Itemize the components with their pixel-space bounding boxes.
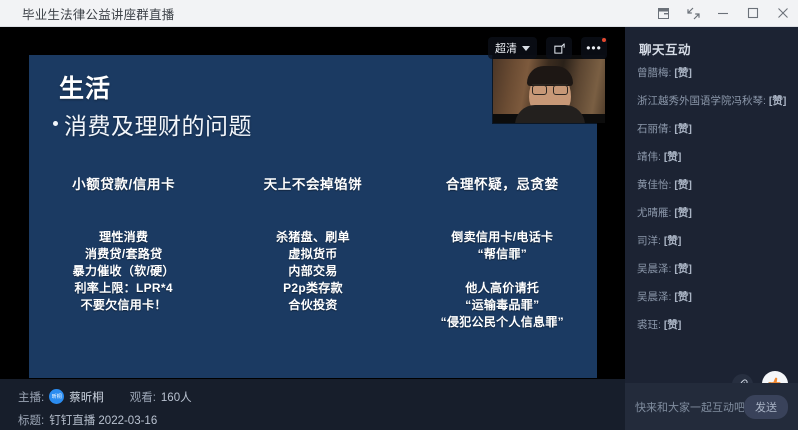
slide-line: 倒卖信用卡/电话卡: [408, 229, 597, 246]
subject-label: 标题:: [18, 412, 44, 428]
live-stream-window: 毕业生法律公益讲座群直播: [0, 0, 798, 430]
chat-message-author: 吴晨泽:: [637, 291, 671, 303]
window-title: 毕业生法律公益讲座群直播: [22, 4, 174, 23]
chat-message-author: 石丽倩:: [637, 123, 671, 135]
chat-message: 尤晴雁: [赞]: [637, 207, 786, 220]
stage: 生活 消费及理财的问题 小额贷款/信用卡 理性消费 消费贷/套路贷 暴力催收（软…: [0, 27, 625, 430]
slide-line: 消费贷/套路贷: [29, 246, 218, 263]
slide-line: 他人高价请托: [408, 280, 597, 297]
chevron-down-icon: [522, 46, 530, 51]
presenter-webcam[interactable]: [493, 55, 605, 123]
chat-message: 石丽倩: [赞]: [637, 123, 786, 136]
quality-selector[interactable]: 超清: [488, 37, 537, 59]
webcam-hair: [527, 66, 573, 86]
chat-message: 裘珏: [赞]: [637, 319, 786, 332]
chat-message: 吴晨泽: [赞]: [637, 263, 786, 276]
chat-message-author: 黄佳怡:: [637, 179, 671, 191]
host-row: 主播: 昕桐 蔡昕桐 观看: 160人: [18, 388, 625, 405]
notification-dot-icon: [602, 38, 606, 42]
chat-message-author: 裘珏:: [637, 319, 661, 331]
chat-message: 黄佳怡: [赞]: [637, 179, 786, 192]
share-screen-button[interactable]: [546, 37, 572, 59]
chat-message-text: [赞]: [769, 95, 787, 107]
slide-column: 小额贷款/信用卡 理性消费 消费贷/套路贷 暴力催收（软/硬） 利率上限：LPR…: [29, 173, 218, 331]
chat-message-text: [赞]: [674, 67, 692, 79]
stream-info-bar: 主播: 昕桐 蔡昕桐 观看: 160人 标题: 钉钉直播 2022-03-16: [0, 379, 625, 430]
restore-down-icon[interactable]: [678, 0, 708, 26]
maximize-icon[interactable]: [738, 0, 768, 26]
slide-column-body: 倒卖信用卡/电话卡 “帮信罪” 他人高价请托 “运输毒品罪” “侵犯公民个人信息…: [408, 229, 597, 331]
slide-line: 理性消费: [29, 229, 218, 246]
slide-column-heading: 天上不会掉馅饼: [218, 173, 407, 193]
send-button[interactable]: 发送: [744, 395, 788, 419]
title-bar: 毕业生法律公益讲座群直播: [0, 0, 798, 27]
slide-line: 虚拟货币: [218, 246, 407, 263]
chat-message: 浙江越秀外国语学院冯秋琴: [赞]: [637, 95, 786, 108]
avatar[interactable]: 昕桐: [49, 389, 64, 404]
chat-message-text: [赞]: [674, 263, 692, 275]
chat-message: 司洋: [赞]: [637, 235, 786, 248]
slide-column-body: 杀猪盘、刷单 虚拟货币 内部交易 P2p类存款 合伙投资: [218, 229, 407, 314]
slide-line: “帮信罪”: [408, 246, 597, 263]
slide-line: P2p类存款: [218, 280, 407, 297]
chat-message: 吴晨泽: [赞]: [637, 291, 786, 304]
more-options-icon: •••: [586, 42, 602, 54]
slide-line: 不要欠信用卡！: [29, 297, 218, 314]
window-snap-icon[interactable]: [648, 0, 678, 26]
chat-message-text: [赞]: [674, 291, 692, 303]
chat-message-text: [赞]: [674, 179, 692, 191]
video-player[interactable]: 生活 消费及理财的问题 小额贷款/信用卡 理性消费 消费贷/套路贷 暴力催收（软…: [0, 27, 625, 379]
slide-line: 合伙投资: [218, 297, 407, 314]
slide-column-body: 理性消费 消费贷/套路贷 暴力催收（软/硬） 利率上限：LPR*4 不要欠信用卡…: [29, 229, 218, 314]
slide-line: 利率上限：LPR*4: [29, 280, 218, 297]
chat-message-list[interactable]: 曾腊梅: [赞] 浙江越秀外国语学院冯秋琴: [赞] 石丽倩: [赞] 靖伟: …: [625, 67, 798, 362]
chat-sidebar: 聊天互动 曾腊梅: [赞] 浙江越秀外国语学院冯秋琴: [赞] 石丽倩: [赞]…: [625, 27, 798, 430]
chat-header-title: 聊天互动: [639, 39, 691, 58]
quality-label: 超清: [495, 40, 517, 56]
slide-line: “侵犯公民个人信息罪”: [408, 314, 597, 331]
slide-column: 天上不会掉馅饼 杀猪盘、刷单 虚拟货币 内部交易 P2p类存款 合伙投资: [218, 173, 407, 331]
viewers-count: 160人: [161, 389, 192, 405]
subject-value: 钉钉直播 2022-03-16: [49, 412, 157, 428]
webcam-torso: [515, 105, 585, 123]
slide-column: 合理怀疑，忌贪婪 倒卖信用卡/电话卡 “帮信罪” 他人高价请托 “运输毒品罪” …: [408, 173, 597, 331]
chat-message-author: 司洋:: [637, 235, 661, 247]
close-icon[interactable]: [768, 0, 798, 26]
slide-line: 暴力催收（软/硬）: [29, 263, 218, 280]
slide-line: 内部交易: [218, 263, 407, 280]
slide-line-spacer: [408, 263, 597, 280]
chat-message: 曾腊梅: [赞]: [637, 67, 786, 80]
chat-message-author: 尤晴雁:: [637, 207, 671, 219]
host-name: 蔡昕桐: [69, 389, 104, 405]
bullet-dot-icon: [53, 121, 58, 126]
slide-bullet-item: 消费及理财的问题: [53, 107, 252, 141]
video-controls: 超清 •••: [488, 37, 607, 59]
slide-line: “运输毒品罪”: [408, 297, 597, 314]
share-screen-icon: [553, 42, 566, 55]
chat-message: 靖伟: [赞]: [637, 151, 786, 164]
minimize-icon[interactable]: [708, 0, 738, 26]
chat-message-text: [赞]: [674, 207, 692, 219]
slide-bullet-text: 消费及理财的问题: [64, 107, 252, 141]
slide-line: 杀猪盘、刷单: [218, 229, 407, 246]
chat-message-author: 曾腊梅:: [637, 67, 671, 79]
slide-columns: 小额贷款/信用卡 理性消费 消费贷/套路贷 暴力催收（软/硬） 利率上限：LPR…: [29, 173, 597, 331]
more-options-button[interactable]: •••: [581, 37, 607, 59]
webcam-glasses: [532, 84, 568, 93]
chat-message-author: 靖伟:: [637, 151, 661, 163]
chat-message-text: [赞]: [664, 235, 682, 247]
chat-message-text: [赞]: [664, 319, 682, 331]
chat-message-author: 吴晨泽:: [637, 263, 671, 275]
viewers-label: 观看:: [130, 389, 156, 405]
chat-input-bar: 快来和大家一起互动吧 发送: [625, 383, 798, 430]
chat-input[interactable]: 快来和大家一起互动吧: [635, 399, 744, 415]
slide-column-heading: 小额贷款/信用卡: [29, 173, 218, 193]
subject-row: 标题: 钉钉直播 2022-03-16: [18, 411, 625, 428]
slide-column-heading: 合理怀疑，忌贪婪: [408, 173, 597, 193]
slide-title: 生活: [59, 69, 111, 105]
chat-message-author: 浙江越秀外国语学院冯秋琴:: [637, 95, 766, 107]
chat-message-text: [赞]: [674, 123, 692, 135]
host-label: 主播:: [18, 389, 44, 405]
chat-message-text: [赞]: [664, 151, 682, 163]
